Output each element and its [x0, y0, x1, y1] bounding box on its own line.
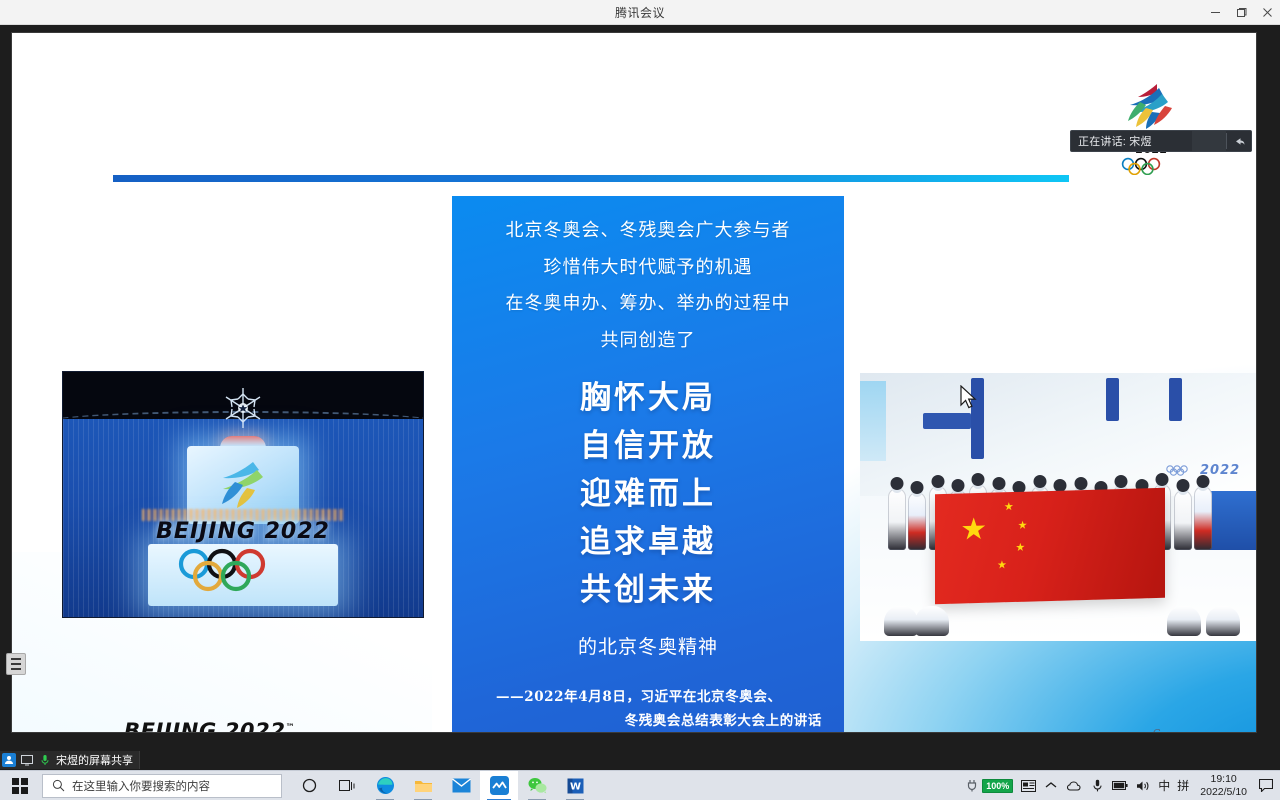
battery-percent: 100% — [982, 779, 1013, 793]
panel-lead-line: 共同创造了 — [470, 322, 826, 359]
screen-share-label: 宋煜的屏幕共享 — [56, 752, 133, 768]
panel-lead-line: 珍惜伟大时代赋予的机遇 — [470, 249, 826, 286]
photo-right-kneeling-d — [1206, 606, 1240, 636]
panel-slogan: 胸怀大局 — [470, 374, 826, 422]
beijing-2022-ice-cube-ceremony-photo: BEIJING 2022 — [62, 371, 424, 618]
panel-lead-line: 在冬奥申办、筹办、举办的过程中 — [470, 285, 826, 322]
minimize-button[interactable] — [1202, 0, 1228, 25]
speaker-video-thumbnail — [1192, 131, 1226, 151]
onedrive-icon[interactable] — [1066, 778, 1082, 794]
volume-icon[interactable] — [1135, 778, 1151, 794]
tencent-meeting-icon[interactable] — [480, 771, 518, 800]
hamburger-line — [11, 668, 21, 670]
active-speaker-label: 正在讲话: 宋煜 — [1071, 133, 1152, 149]
photo-right-kneeling-b — [915, 606, 949, 636]
clock-date: 2022/5/10 — [1200, 786, 1247, 799]
wechat-icon[interactable] — [518, 771, 556, 800]
close-button[interactable] — [1254, 0, 1280, 25]
photo-right-kneeling-c — [1167, 606, 1201, 636]
panel-attribution-line: 冬残奥会总结表彰大会上的讲话 — [470, 709, 826, 732]
news-and-interests-icon[interactable] — [1020, 778, 1036, 794]
taskbar-items: W — [290, 771, 594, 800]
hamburger-line — [11, 658, 21, 660]
system-tray: 100% 中 拼 19:10 202 — [966, 773, 1280, 799]
search-icon — [51, 779, 65, 793]
battery-tray-icon[interactable] — [1112, 778, 1128, 794]
panel-slogan: 追求卓越 — [470, 518, 826, 566]
beijing-2022-emblem-icon — [1110, 78, 1194, 132]
beijing-2022-emblem-icon — [195, 456, 291, 514]
microphone-icon — [38, 753, 52, 767]
photo-right-blue-panel — [860, 381, 886, 461]
svg-text:W: W — [569, 781, 580, 792]
participant-icon — [2, 753, 16, 767]
ime-mode-indicator[interactable]: 中 — [1158, 777, 1170, 794]
photo-right-sign — [923, 413, 971, 429]
screen-share-icon — [20, 753, 34, 767]
photo-right-post-b — [1106, 378, 1119, 421]
window-title: 腾讯会议 — [615, 4, 665, 21]
mouse-cursor — [960, 385, 978, 411]
slide-quote-panel: 北京冬奥会、冬残奥会广大参与者 珍惜伟大时代赋予的机遇 在冬奥申办、筹办、举办的… — [452, 196, 844, 732]
photo-left-wordmark: BEIJING 2022 — [63, 519, 423, 544]
maximize-restore-button[interactable] — [1228, 0, 1254, 25]
active-speaker-toast[interactable]: 正在讲话: 宋煜 — [1070, 130, 1252, 152]
share-toolbar-handle[interactable] — [6, 653, 26, 675]
hamburger-line — [11, 663, 21, 665]
panel-slogans: 胸怀大局 自信开放 迎难而上 追求卓越 共创未来 — [470, 374, 826, 614]
photo-right-kneeling-a — [884, 606, 918, 636]
task-view-icon[interactable] — [328, 771, 366, 800]
slide-divider-rule — [113, 175, 1069, 182]
mail-icon[interactable] — [442, 771, 480, 800]
screen-share-status-bar: 宋煜的屏幕共享 — [0, 750, 1280, 770]
slide-footer-wordmark: BEIJING 2022™ — [124, 719, 295, 732]
snowflake-icon — [216, 384, 270, 432]
slide-footer-wordmark-text: BEIJING 2022 — [124, 719, 286, 732]
cortana-icon[interactable] — [290, 771, 328, 800]
panel-slogan: 共创未来 — [470, 566, 826, 614]
taskbar-clock[interactable]: 19:10 2022/5/10 — [1196, 773, 1251, 799]
battery-indicator[interactable]: 100% — [966, 779, 1013, 793]
taskbar-search-input[interactable]: 在这里输入你要搜索的内容 — [42, 774, 282, 798]
panel-lead: 北京冬奥会、冬残奥会广大参与者 珍惜伟大时代赋予的机遇 在冬奥申办、筹办、举办的… — [470, 212, 826, 358]
microsoft-word-icon[interactable]: W — [556, 771, 594, 800]
china-delegation-flag-snow-photo: 2022 ★ — [860, 373, 1256, 641]
window-controls — [1202, 0, 1280, 25]
panel-lead-line: 北京冬奥会、冬残奥会广大参与者 — [470, 212, 826, 249]
windows-start-icon[interactable] — [0, 771, 40, 800]
clock-time: 19:10 — [1200, 773, 1247, 786]
slide-page-number: 6 — [1152, 726, 1162, 732]
panel-attribution-line: ——2022年4月8日，习近平在北京冬奥会、 — [470, 685, 826, 709]
reply-arrow-icon[interactable] — [1227, 135, 1251, 148]
power-plug-icon — [966, 779, 980, 792]
ime-pinyin-indicator[interactable]: 拼 — [1177, 777, 1189, 794]
olympic-rings-icon — [168, 548, 318, 592]
microsoft-edge-icon[interactable] — [366, 771, 404, 800]
panel-slogan: 自信开放 — [470, 422, 826, 470]
meeting-app-window: 腾讯会议 — [0, 0, 1280, 800]
photo-right-post-c — [1169, 378, 1182, 421]
screen-share-chip[interactable]: 宋煜的屏幕共享 — [0, 751, 140, 769]
action-center-icon[interactable] — [1258, 778, 1274, 794]
china-national-flag: ★ ★ ★ ★ ★ — [935, 488, 1165, 604]
show-hidden-icons-icon[interactable] — [1043, 778, 1059, 794]
olympic-rings-icon — [1116, 157, 1188, 175]
panel-attribution: ——2022年4月8日，习近平在北京冬奥会、 冬残奥会总结表彰大会上的讲话 — [470, 685, 826, 732]
panel-slogan: 迎难而上 — [470, 470, 826, 518]
window-titlebar: 腾讯会议 — [0, 0, 1280, 25]
trademark-symbol: ™ — [286, 723, 296, 732]
panel-coda: 的北京冬奥精神 — [470, 632, 826, 659]
windows-taskbar: 在这里输入你要搜索的内容 — [0, 770, 1280, 800]
microphone-icon[interactable] — [1089, 778, 1105, 794]
file-explorer-icon[interactable] — [404, 771, 442, 800]
taskbar-search-placeholder: 在这里输入你要搜索的内容 — [72, 778, 210, 794]
